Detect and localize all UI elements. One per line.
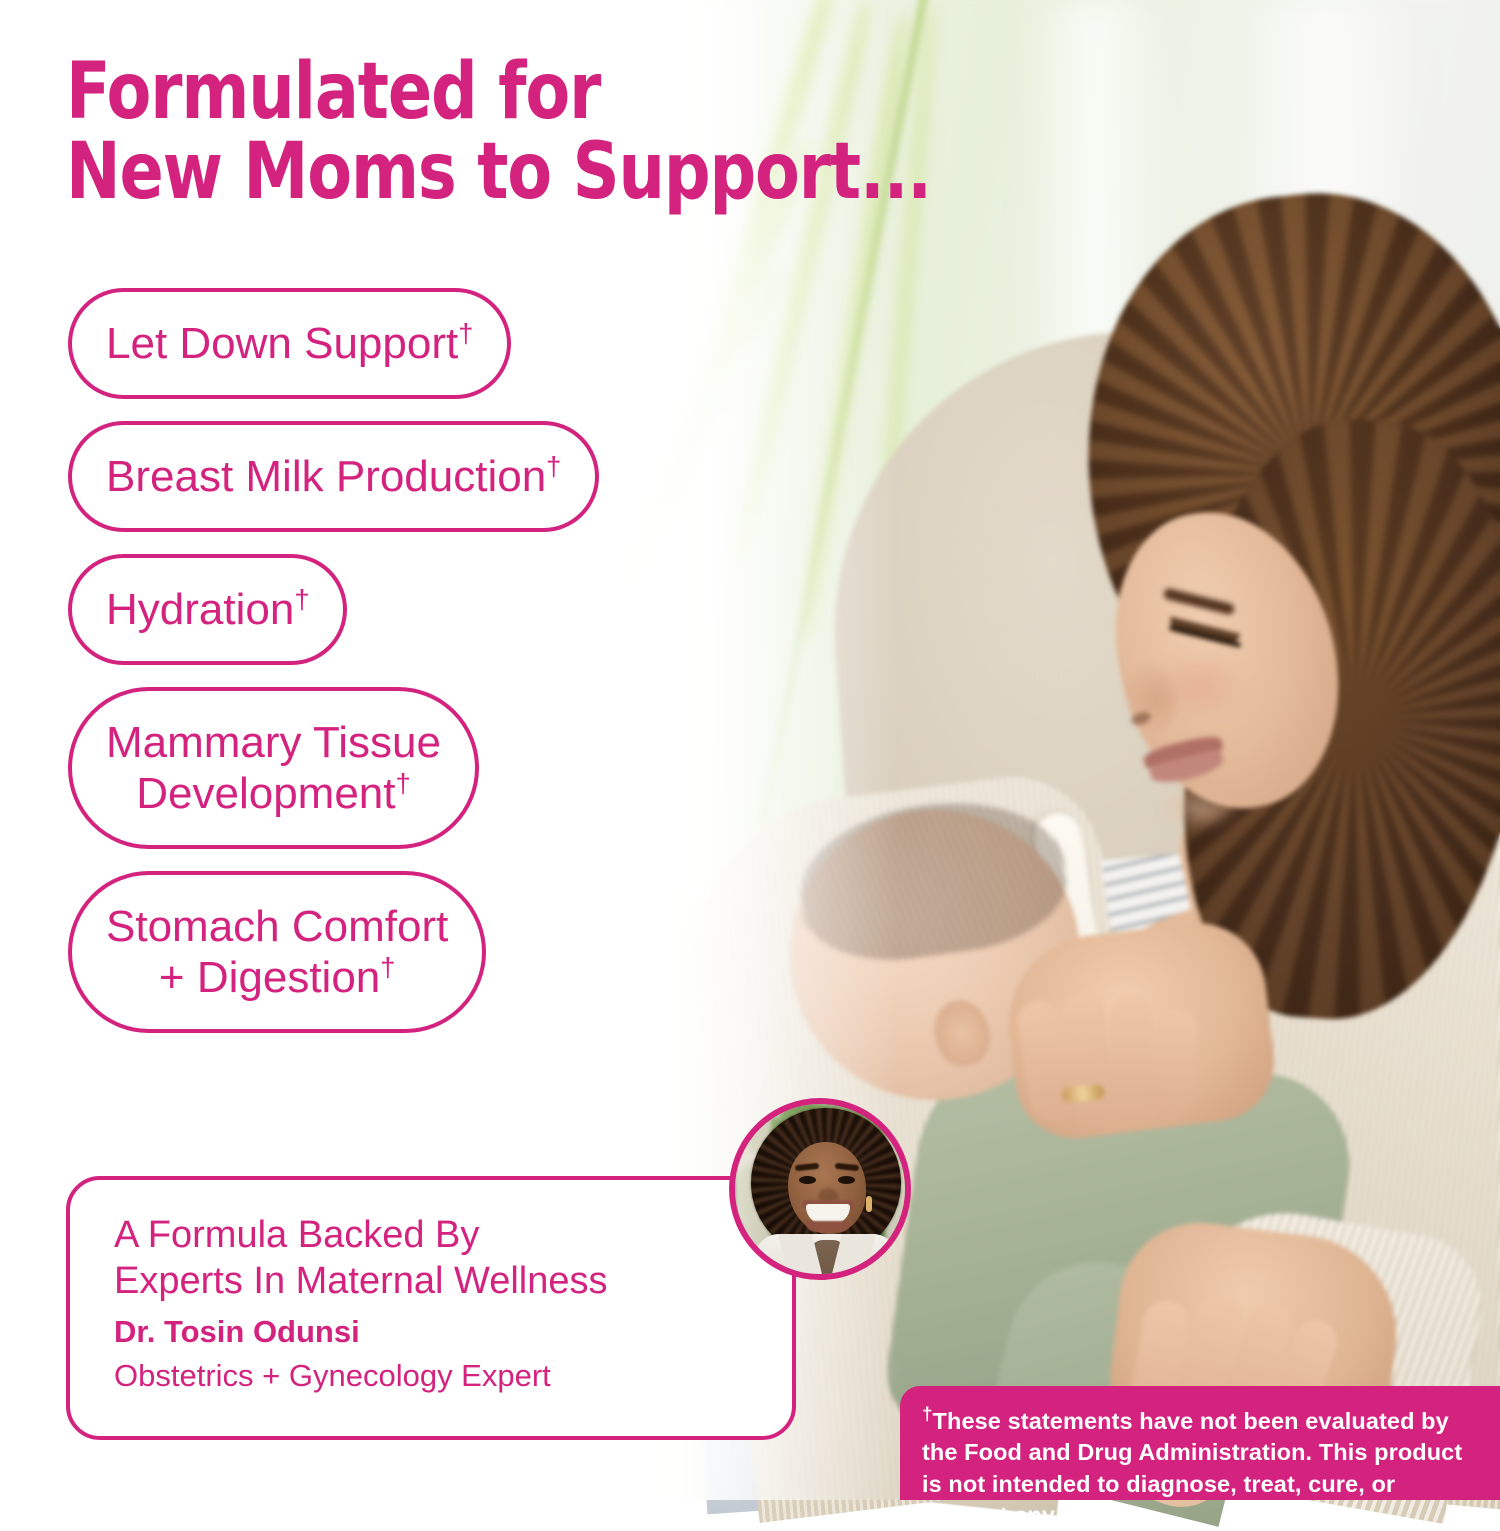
benefit-label: Breast Milk Production — [106, 452, 546, 501]
avatar — [729, 1098, 911, 1280]
dagger-marker: † — [396, 767, 411, 798]
headline-line-1: Formulated for — [66, 52, 977, 132]
benefit-pill-mammary-tissue-development[interactable]: Mammary Tissue Development† — [68, 687, 479, 849]
benefit-row: Stomach Comfort + Digestion† — [68, 871, 599, 1055]
expert-endorsement-card: A Formula Backed By Experts In Maternal … — [66, 1176, 796, 1440]
dagger-marker: † — [458, 317, 473, 348]
expert-role: Obstetrics + Gynecology Expert — [114, 1358, 551, 1394]
benefit-pill-breast-milk-production[interactable]: Breast Milk Production† — [68, 421, 599, 532]
fda-disclaimer-text: †These statements have not been evaluate… — [900, 1386, 1500, 1531]
dagger-marker: † — [546, 450, 561, 481]
benefit-row: Let Down Support† — [68, 288, 599, 421]
benefit-label: Hydration — [106, 585, 294, 634]
avatar-eye — [799, 1176, 816, 1184]
benefit-pill-let-down-support[interactable]: Let Down Support† — [68, 288, 511, 399]
benefit-pill-hydration[interactable]: Hydration† — [68, 554, 347, 665]
benefit-row: Breast Milk Production† — [68, 421, 599, 554]
disclaimer-body: These statements have not been evaluated… — [922, 1408, 1462, 1528]
dagger-marker: † — [380, 952, 395, 983]
benefit-list: Let Down Support† Breast Milk Production… — [68, 288, 599, 1055]
expert-name: Dr. Tosin Odunsi — [114, 1314, 360, 1350]
avatar-eye — [838, 1176, 855, 1184]
headline-line-2: New Moms to Support... — [66, 132, 977, 212]
avatar-lower-lip — [805, 1221, 851, 1232]
dagger-marker: † — [922, 1403, 933, 1424]
earring-icon — [866, 1196, 872, 1212]
expert-card-title: A Formula Backed By Experts In Maternal … — [114, 1212, 608, 1305]
benefit-pill-stomach-comfort-digestion[interactable]: Stomach Comfort + Digestion† — [68, 871, 486, 1033]
page-title: Formulated for New Moms to Support... — [66, 52, 977, 213]
benefit-label: Stomach Comfort + Digestion — [106, 902, 448, 1002]
benefit-label: Let Down Support — [106, 319, 458, 368]
benefit-label: Mammary Tissue Development — [106, 718, 441, 818]
fda-disclaimer-panel: †These statements have not been evaluate… — [900, 1386, 1500, 1500]
benefit-row: Hydration† — [68, 554, 599, 687]
benefit-row: Mammary Tissue Development† — [68, 687, 599, 871]
dagger-marker: † — [294, 583, 309, 614]
